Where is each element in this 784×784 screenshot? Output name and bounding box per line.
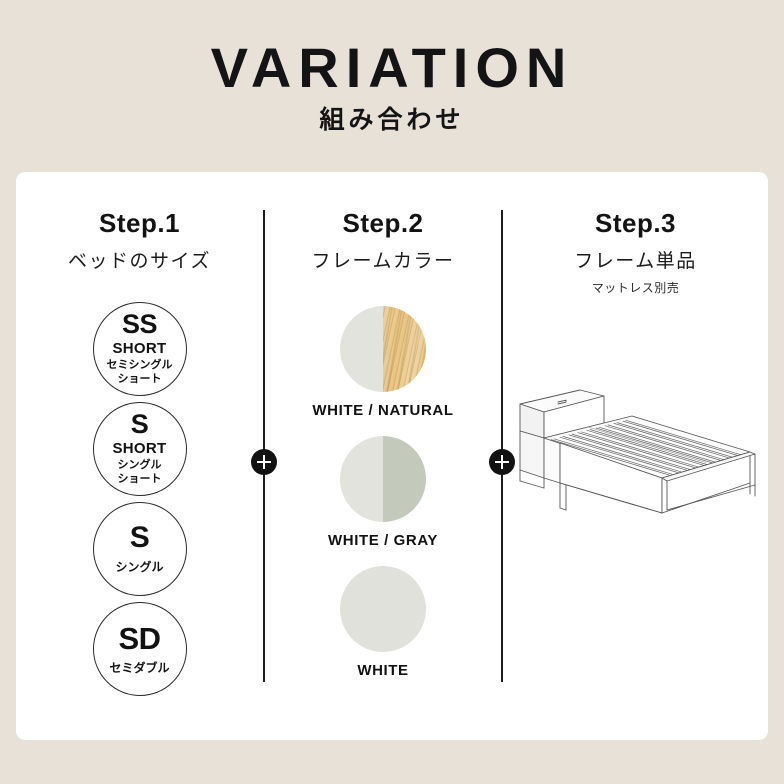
size-code: S xyxy=(130,523,150,553)
variation-infographic: VARIATION 組み合わせ Step.1 ベッドのサイズ SS SHORT … xyxy=(0,0,784,784)
step-1-subtitle: ベッドのサイズ xyxy=(16,252,263,271)
swatch-half-white xyxy=(340,566,426,652)
swatch-half-natural xyxy=(383,306,426,392)
size-option-s[interactable]: S シングル xyxy=(93,502,187,596)
swatch-half-white xyxy=(340,306,383,392)
size-option-sd[interactable]: SD セミダブル xyxy=(93,602,187,696)
size-short-label: SHORT xyxy=(113,340,167,357)
swatch-half-gray xyxy=(383,436,426,522)
size-code: S xyxy=(131,411,149,438)
color-option-white-natural[interactable]: WHITE / NATURAL xyxy=(283,306,483,418)
size-short-label: SHORT xyxy=(113,440,167,457)
header: VARIATION 組み合わせ xyxy=(0,0,784,172)
step-3-subtitle: フレーム単品 xyxy=(503,252,768,271)
step-3-note: マットレス別売 xyxy=(503,282,768,294)
color-swatch xyxy=(340,306,426,392)
plus-icon-1 xyxy=(251,449,277,475)
bed-frame-illustration xyxy=(514,382,758,532)
color-swatch xyxy=(340,566,426,652)
page-subtitle: 組み合わせ xyxy=(0,108,784,133)
step-2-title: Step.2 xyxy=(265,210,501,236)
step-2-subtitle: フレームカラー xyxy=(265,252,501,271)
color-option-white-gray[interactable]: WHITE / GRAY xyxy=(283,436,483,548)
size-jp-label: シングル ショート xyxy=(118,459,162,487)
swatch-half-white xyxy=(340,436,383,522)
size-jp-label: セミダブル xyxy=(109,661,169,676)
step-1-title: Step.1 xyxy=(16,210,263,236)
size-jp-label: シングル xyxy=(115,560,163,575)
color-label: WHITE xyxy=(283,663,483,678)
column-divider-1 xyxy=(263,210,265,682)
color-option-white[interactable]: WHITE xyxy=(283,566,483,678)
step-3-title: Step.3 xyxy=(503,210,768,236)
color-label: WHITE / NATURAL xyxy=(283,403,483,418)
size-jp-label: セミシングル ショート xyxy=(107,359,173,387)
plus-icon-2 xyxy=(489,449,515,475)
color-swatch xyxy=(340,436,426,522)
column-divider-2 xyxy=(501,210,503,682)
size-code: SS xyxy=(122,311,157,338)
size-option-s-short[interactable]: S SHORT シングル ショート xyxy=(93,402,187,496)
page-title: VARIATION xyxy=(0,40,784,96)
size-code: SD xyxy=(118,623,160,654)
size-option-ss-short[interactable]: SS SHORT セミシングル ショート xyxy=(93,302,187,396)
steps-panel: Step.1 ベッドのサイズ SS SHORT セミシングル ショート S SH… xyxy=(16,172,768,740)
color-label: WHITE / GRAY xyxy=(283,533,483,548)
